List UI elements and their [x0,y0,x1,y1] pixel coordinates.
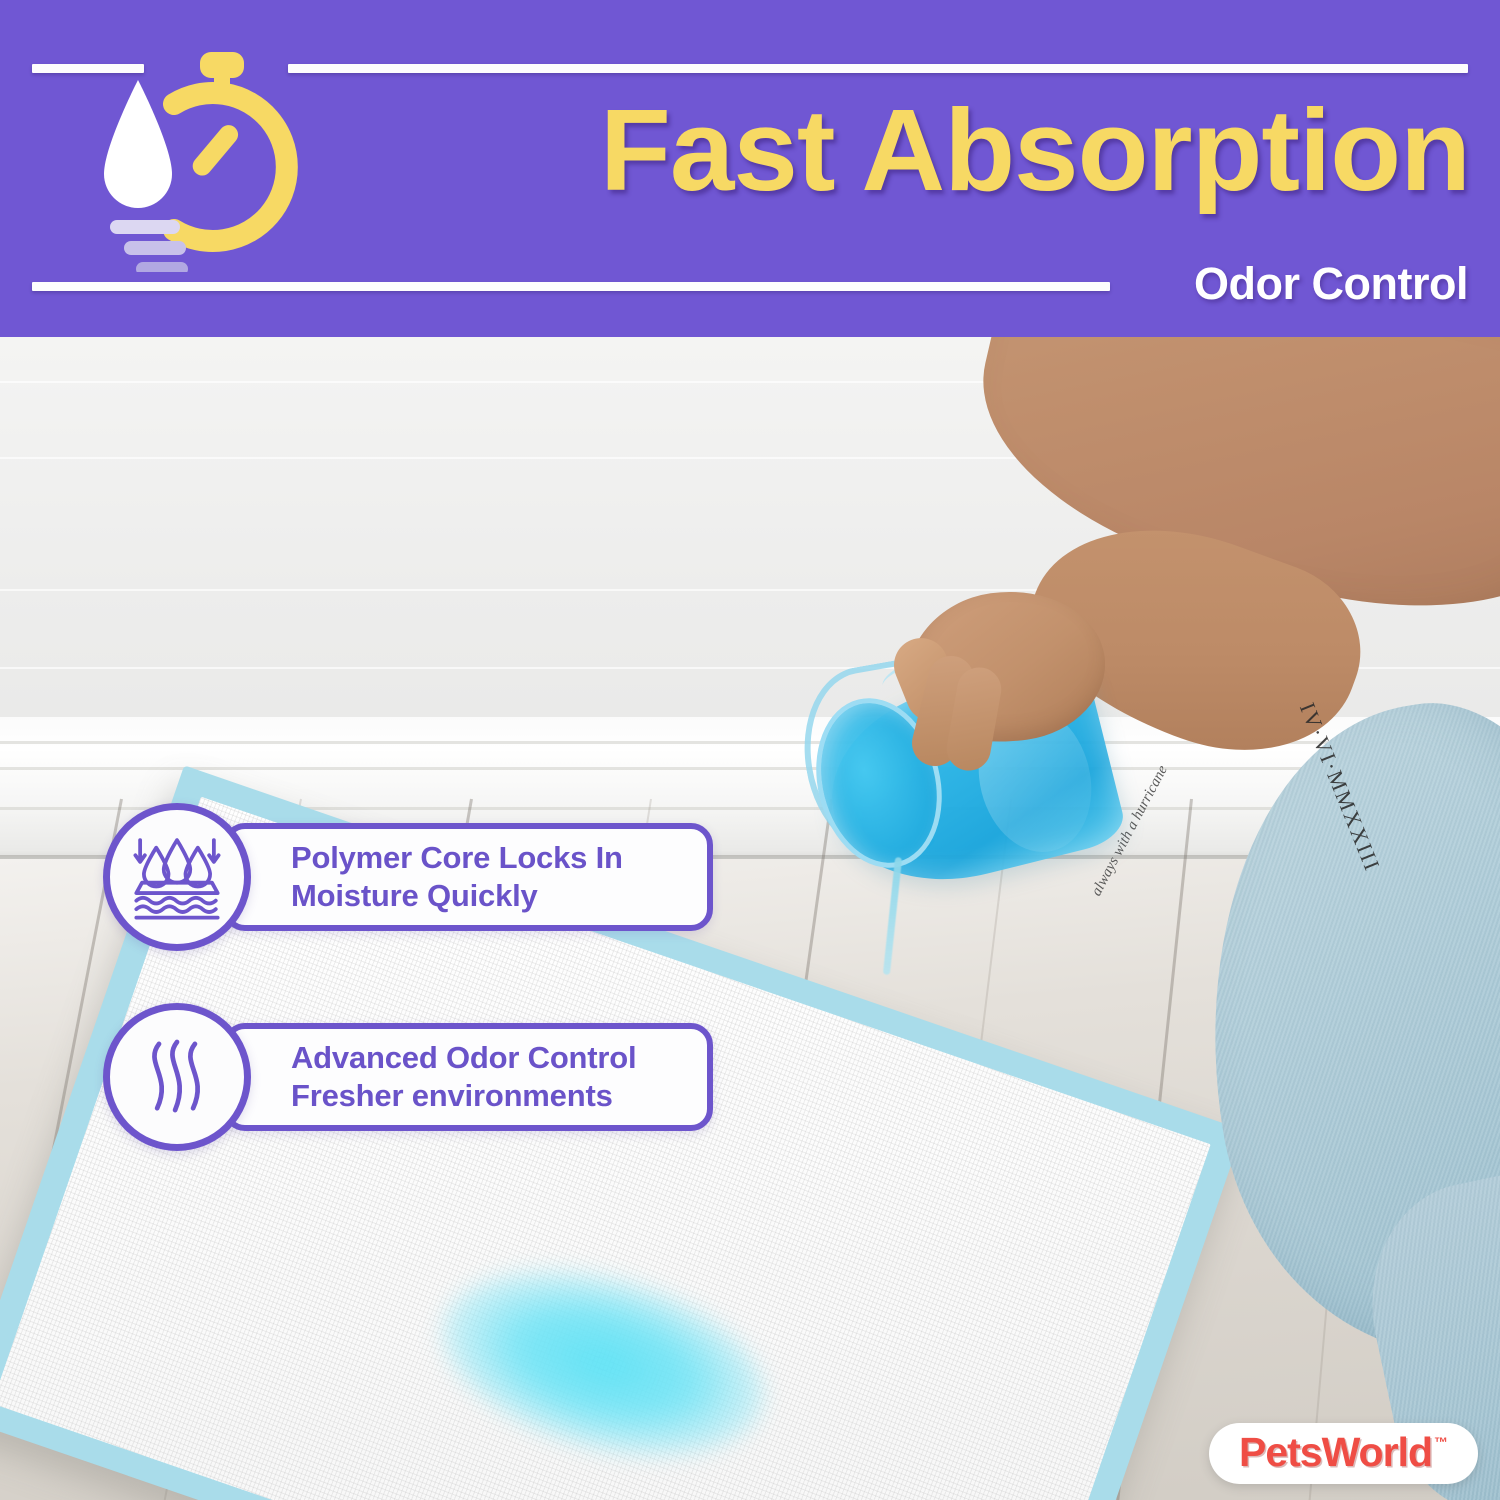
callout-text: Advanced Odor Control Fresher environmen… [291,1039,636,1115]
header-rule-bottom [32,282,1110,291]
odor-waves-icon [103,1003,251,1151]
brand-logo: PetsWorld ™ [1209,1423,1478,1484]
brand-name: PetsWorld [1239,1432,1432,1473]
callout-pill: Advanced Odor Control Fresher environmen… [223,1023,713,1131]
feature-callout-polymer-core[interactable]: Polymer Core Locks In Moisture Quickly [103,803,713,951]
header-banner: Fast Absorption Odor Control [0,0,1500,337]
trademark-symbol: ™ [1434,1434,1448,1450]
page-subtitle: Odor Control [1194,261,1468,306]
feature-callout-odor-control[interactable]: Advanced Odor Control Fresher environmen… [103,1003,713,1151]
product-infographic: Fast Absorption Odor Control [0,0,1500,1500]
water-drop-stopwatch-icon [78,42,308,272]
callout-text: Polymer Core Locks In Moisture Quickly [291,839,623,915]
product-photo: IV·VI·MMXXIII always with a hurricane [0,337,1500,1500]
absorbed-liquid-stain [422,1239,785,1489]
callout-pill: Polymer Core Locks In Moisture Quickly [223,823,713,931]
droplets-absorb-layers-icon [103,803,251,951]
page-title: Fast Absorption [380,92,1470,208]
header-rule-top-right [288,64,1468,73]
